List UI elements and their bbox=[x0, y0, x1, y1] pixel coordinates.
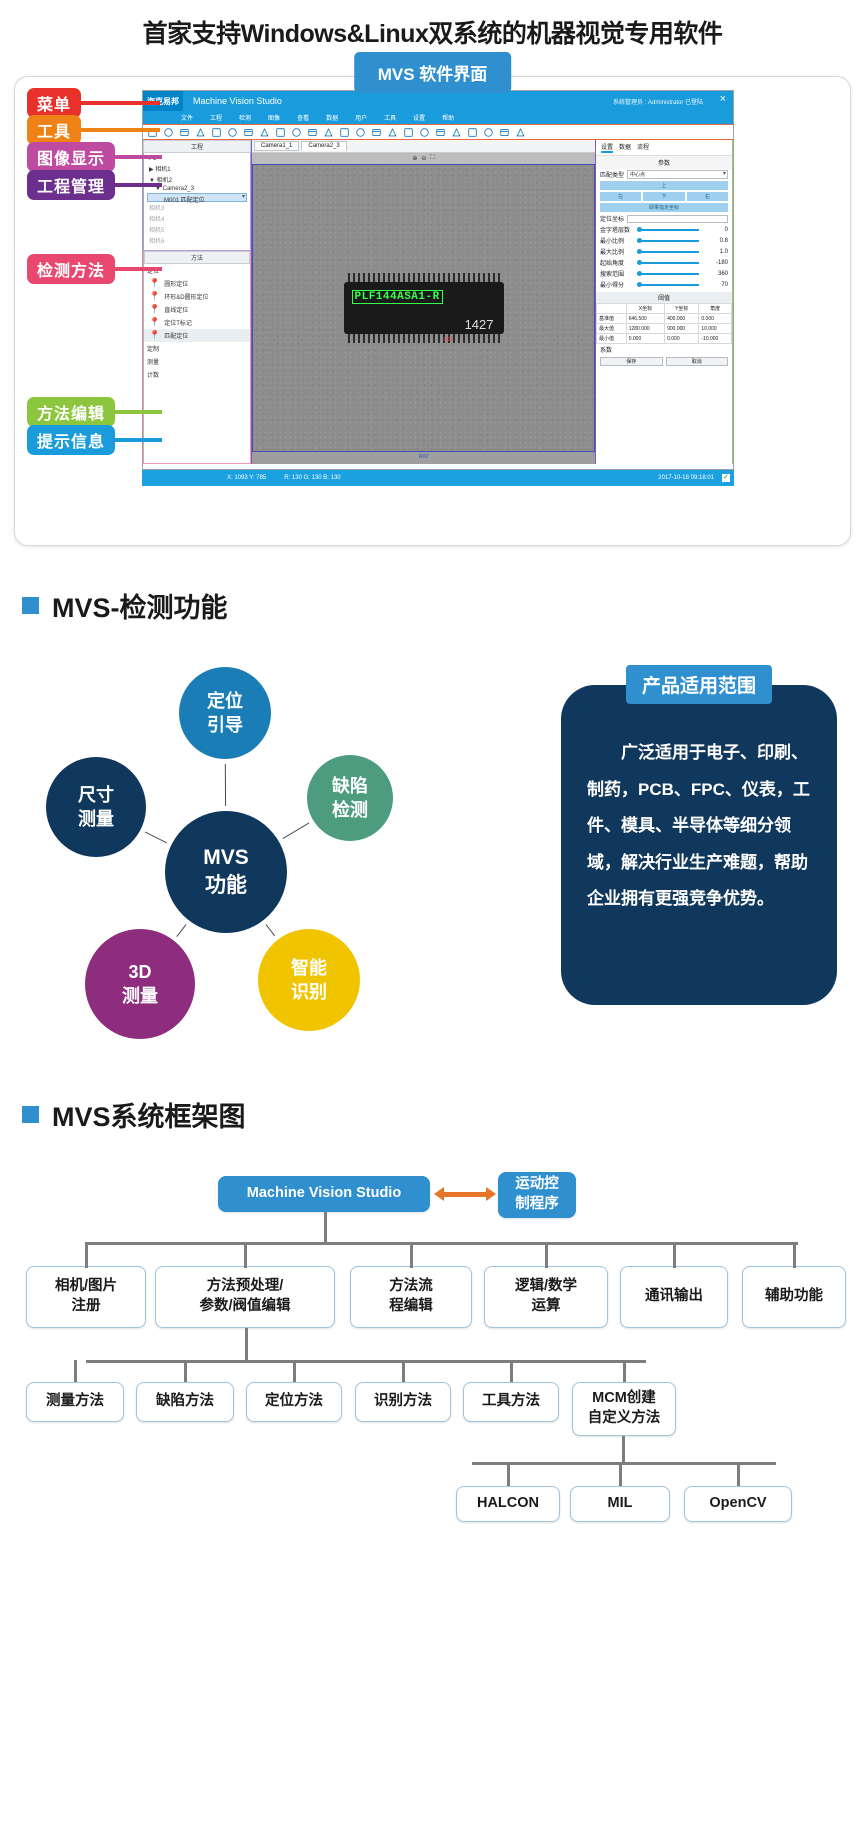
save-button[interactable]: 保存 bbox=[600, 357, 663, 366]
bubble-line: 功能 bbox=[205, 872, 247, 900]
cell-1-4: 0.000 bbox=[699, 314, 732, 324]
info-icon[interactable] bbox=[514, 126, 527, 139]
target-icon[interactable] bbox=[402, 126, 415, 139]
help-icon[interactable] bbox=[498, 126, 511, 139]
l2-drop-3 bbox=[293, 1360, 296, 1382]
coord-input[interactable] bbox=[627, 215, 728, 223]
zoom-out-icon[interactable]: ⊖ bbox=[421, 155, 426, 162]
l1-drop-2 bbox=[244, 1242, 247, 1268]
heading-square-icon-2 bbox=[22, 1106, 39, 1123]
confirm-coord-button[interactable]: 即果指定坐标 bbox=[600, 203, 728, 212]
cell-2-4: 10.000 bbox=[699, 324, 732, 334]
bubble-line: 测量 bbox=[78, 807, 114, 831]
status-coords: X: 1093 Y: 785 bbox=[227, 475, 266, 481]
system-admin-text: 系统管理员 : Administrator 已登陆 bbox=[613, 97, 703, 106]
cell-2-2: 1280.000 bbox=[626, 324, 664, 334]
image-canvas[interactable]: PLF144ASA1-R 1427 R01 bbox=[252, 164, 595, 452]
node-line: MCM创建 bbox=[592, 1389, 656, 1409]
pencil-icon[interactable] bbox=[418, 126, 431, 139]
bubble-line: 测量 bbox=[122, 984, 158, 1008]
param-row-3: 最大比例1.0 bbox=[596, 246, 732, 257]
node-line: 相机/图片 bbox=[55, 1277, 117, 1297]
method-item-定位-5[interactable]: 📍匹配定位 bbox=[144, 329, 250, 342]
param-value: 0 bbox=[702, 227, 728, 233]
method-group-2: 定制 bbox=[144, 342, 250, 355]
save-icon[interactable] bbox=[162, 126, 175, 139]
threshold-table: X坐标Y坐标角度 基准值646.500400.0000.000最大值1280.0… bbox=[596, 303, 732, 344]
settings-tab-1[interactable]: 设置 bbox=[601, 142, 613, 153]
param-slider[interactable] bbox=[637, 270, 699, 278]
pin-line-icon: 📍 bbox=[149, 305, 160, 314]
framework-l3-node-3[interactable]: OpenCV bbox=[684, 1486, 792, 1522]
roi-label-top: R01 bbox=[444, 337, 453, 343]
callout-arrow bbox=[115, 267, 162, 271]
menu-item-8[interactable]: 工具 bbox=[384, 113, 396, 122]
menu-item-9[interactable]: 设置 bbox=[413, 113, 425, 122]
menu-bar: 文件工程检测图像查看数据用户工具设置帮助 bbox=[143, 111, 733, 124]
user-icon[interactable] bbox=[370, 126, 383, 139]
menu-item-1[interactable]: 文件 bbox=[181, 113, 193, 122]
framework-l1-node-3[interactable]: 方法流程编辑 bbox=[350, 1266, 472, 1328]
mail-icon[interactable] bbox=[306, 126, 319, 139]
method-item-定位-1[interactable]: 📍圆形定位 bbox=[144, 277, 250, 290]
node-line: 程编辑 bbox=[389, 1297, 433, 1317]
l1-drop-5 bbox=[673, 1242, 676, 1268]
coord-row: 定位坐标 bbox=[596, 213, 732, 224]
method-item-label: 定位T标记 bbox=[164, 318, 192, 327]
node-line: 工具方法 bbox=[482, 1392, 540, 1412]
pin-t-icon: 📍 bbox=[149, 318, 160, 327]
th-2: X坐标 bbox=[626, 304, 664, 314]
param-label: 最大比例 bbox=[600, 247, 634, 256]
menu-item-3[interactable]: 检测 bbox=[239, 113, 251, 122]
framework-l3-node-2[interactable]: MIL bbox=[570, 1486, 670, 1522]
framework-l1-node-1[interactable]: 相机/图片注册 bbox=[26, 1266, 146, 1328]
function-bubble-5[interactable]: 3D测量 bbox=[85, 929, 195, 1039]
project-tree[interactable]: P1▶ 相机1▼ 相机2▼ Camera2_3M001 匹配定位相机3相机4相机… bbox=[143, 153, 251, 251]
function-bubbles: 定位引导缺陷检测尺寸测量MVS功能3D测量智能识别 bbox=[0, 635, 460, 1055]
param-row-6: 最小得分70 bbox=[596, 279, 732, 290]
match-type-select[interactable]: 中心点 bbox=[627, 170, 728, 179]
l2-drop-1 bbox=[74, 1360, 77, 1382]
framework-l1-node-6[interactable]: 辅助功能 bbox=[742, 1266, 846, 1328]
l1-to-l2-line bbox=[245, 1328, 248, 1362]
functions-heading: MVS-检测功能 bbox=[22, 586, 865, 625]
param-row-1: 金字塔层数0 bbox=[596, 224, 732, 235]
settings-buttons: 保存 取消 bbox=[596, 355, 732, 368]
menu-item-6[interactable]: 数据 bbox=[326, 113, 338, 122]
param-value: -180 bbox=[702, 260, 728, 266]
camera-icon[interactable] bbox=[242, 126, 255, 139]
framework-root-node[interactable]: Machine Vision Studio bbox=[218, 1176, 430, 1212]
framework-l2-node-3[interactable]: 定位方法 bbox=[246, 1382, 342, 1422]
dir-right-button[interactable]: 右 bbox=[687, 192, 728, 201]
menu-item-7[interactable]: 用户 bbox=[355, 113, 367, 122]
camera-tabs[interactable]: Camera1_1Camera2_3 bbox=[252, 140, 595, 153]
pin-icon: 📍 bbox=[149, 279, 160, 288]
node-line: 方法预处理/ bbox=[207, 1277, 284, 1297]
method-item-label: 匹配定位 bbox=[164, 331, 188, 340]
pin-icon: 📍 bbox=[149, 331, 160, 340]
callout-4: 工程管理 bbox=[27, 170, 115, 200]
method-item-定位-4[interactable]: 📍定位T标记 bbox=[144, 316, 250, 329]
tool-bar bbox=[143, 124, 733, 140]
l2-drop-4 bbox=[402, 1360, 405, 1382]
match-type-row: 匹配类型 中心点 bbox=[596, 169, 732, 180]
cell-1-1: 基准值 bbox=[597, 314, 627, 324]
chart-icon[interactable] bbox=[322, 126, 335, 139]
tree-node-5[interactable]: M001 匹配定位 bbox=[147, 193, 247, 202]
warning-icon[interactable] bbox=[226, 126, 239, 139]
method-item-定位-3[interactable]: 📍直线定位 bbox=[144, 303, 250, 316]
threshold-title: 阈值 bbox=[596, 292, 732, 303]
tree-node-9[interactable]: 相机6 bbox=[147, 235, 247, 246]
l3-drop-1 bbox=[507, 1462, 510, 1486]
callout-arrow bbox=[81, 101, 160, 105]
param-row-2: 最小比例0.8 bbox=[596, 235, 732, 246]
threshold-table-body: 基准值646.500400.0000.000最大值1280.000900.000… bbox=[597, 314, 732, 344]
method-group-3: 测量 bbox=[144, 355, 250, 368]
function-bubble-6[interactable]: 智能识别 bbox=[258, 929, 360, 1031]
node-line: 定位方法 bbox=[265, 1392, 323, 1412]
cell-3-4: -10.000 bbox=[699, 334, 732, 344]
load-icon[interactable] bbox=[178, 126, 191, 139]
cell-2-1: 最大值 bbox=[597, 324, 627, 334]
screenshot-section: MVS 软件界面 菜单工具图像显示工程管理检测方法方法编辑提示信息 泡克易邦 M… bbox=[14, 76, 851, 546]
run-icon[interactable] bbox=[354, 126, 367, 139]
match-type-label: 匹配类型 bbox=[600, 170, 624, 179]
functions-area: 定位引导缺陷检测尺寸测量MVS功能3D测量智能识别 产品适用范围 广泛适用于电子… bbox=[0, 635, 865, 1055]
menu-item-4[interactable]: 图像 bbox=[268, 113, 280, 122]
settings-tab-2[interactable]: 数据 bbox=[619, 142, 631, 153]
framework-heading: MVS系统框架图 bbox=[22, 1095, 865, 1134]
node-line: 逻辑/数学 bbox=[515, 1277, 577, 1297]
method-panel-header: 方法 bbox=[144, 251, 250, 264]
image-bottom-bar: R02 bbox=[252, 452, 595, 464]
tree-node-8[interactable]: 相机5 bbox=[147, 224, 247, 235]
screenshot-card: 菜单工具图像显示工程管理检测方法方法编辑提示信息 泡克易邦 Machine Vi… bbox=[14, 76, 851, 546]
param-slider[interactable] bbox=[637, 226, 699, 234]
param-slider[interactable] bbox=[637, 259, 699, 267]
callout-arrow bbox=[115, 183, 162, 187]
settings-tabs[interactable]: 设置数据流程 bbox=[596, 140, 732, 156]
callout-1: 菜单 bbox=[27, 88, 81, 118]
gears-icon: 📍 bbox=[149, 292, 160, 301]
match-type-value: 中心点 bbox=[628, 172, 645, 178]
l2-to-l3-line bbox=[622, 1436, 625, 1464]
level2-bus-line bbox=[86, 1360, 646, 1363]
node-line: 测量方法 bbox=[46, 1392, 104, 1412]
l3-drop-3 bbox=[737, 1462, 740, 1486]
param-label: 起始角度 bbox=[600, 258, 634, 267]
close-icon[interactable]: × bbox=[720, 93, 726, 105]
settings-tab-3[interactable]: 流程 bbox=[637, 142, 649, 153]
mvs-application-window: 泡克易邦 Machine Vision Studio 系统管理员 : Admin… bbox=[142, 90, 734, 470]
zoom-in-icon[interactable]: ⊕ bbox=[412, 155, 417, 162]
image-toolbar[interactable]: ⊕ ⊖ ⛶ bbox=[252, 153, 595, 164]
method-list[interactable]: 定位📍圆形定位📍环形&D圆形定位📍直线定位📍定位T标记📍匹配定位定制测量计数 bbox=[144, 264, 250, 381]
node-line: MIL bbox=[608, 1494, 633, 1514]
method-item-定位-2[interactable]: 📍环形&D圆形定位 bbox=[144, 290, 250, 303]
status-rgb: R: 130 G: 130 B: 130 bbox=[284, 475, 340, 481]
framework-l2-node-2[interactable]: 缺陷方法 bbox=[136, 1382, 234, 1422]
framework-l2-node-4[interactable]: 识别方法 bbox=[355, 1382, 451, 1422]
threshold-table-head: X坐标Y坐标角度 bbox=[597, 304, 732, 314]
framework-l1-node-2[interactable]: 方法预处理/参数/阀值编辑 bbox=[155, 1266, 335, 1328]
menu-item-5[interactable]: 查看 bbox=[297, 113, 309, 122]
cell-2-3: 900.000 bbox=[665, 324, 699, 334]
lock-icon[interactable] bbox=[194, 126, 207, 139]
status-check-icon: ✓ bbox=[722, 474, 730, 482]
method-item-label: 环形&D圆形定位 bbox=[164, 292, 208, 301]
framework-l2-node-6[interactable]: MCM创建自定义方法 bbox=[572, 1382, 676, 1436]
dir-down-button[interactable]: 下 bbox=[643, 192, 684, 201]
menu-item-10[interactable]: 帮助 bbox=[442, 113, 454, 122]
node-line: 缺陷方法 bbox=[156, 1392, 214, 1412]
framework-l2-node-1[interactable]: 测量方法 bbox=[26, 1382, 124, 1422]
app-title-text: Machine Vision Studio bbox=[193, 96, 282, 106]
l2-drop-6 bbox=[623, 1360, 626, 1382]
node-line: HALCON bbox=[477, 1494, 539, 1514]
param-row-5: 搜索范围360 bbox=[596, 268, 732, 279]
import-icon[interactable] bbox=[258, 126, 271, 139]
framework-diagram: Machine Vision Studio运动控制程序相机/图片注册方法预处理/… bbox=[0, 1160, 865, 1540]
callout-7: 提示信息 bbox=[27, 425, 115, 455]
bubble-line: 检测 bbox=[332, 798, 368, 822]
chip-marking-text: PLF144ASA1-R bbox=[352, 290, 443, 304]
callout-3: 图像显示 bbox=[27, 142, 115, 172]
framework-l1-node-5[interactable]: 通讯输出 bbox=[620, 1266, 728, 1328]
camera-tab-2[interactable]: Camera2_3 bbox=[301, 141, 346, 151]
param-label: 搜索范围 bbox=[600, 269, 634, 278]
callout-arrow bbox=[115, 155, 162, 159]
search-icon[interactable] bbox=[338, 126, 351, 139]
function-bubble-3[interactable]: 尺寸测量 bbox=[46, 757, 146, 857]
coord-label: 定位坐标 bbox=[600, 214, 624, 223]
gear-icon[interactable] bbox=[434, 126, 447, 139]
wifi-icon[interactable] bbox=[482, 126, 495, 139]
th-4: 角度 bbox=[699, 304, 732, 314]
function-bubble-1[interactable]: 定位引导 bbox=[179, 667, 271, 759]
function-bubble-4[interactable]: MVS功能 bbox=[165, 811, 287, 933]
param-label: 金字塔层数 bbox=[600, 225, 634, 234]
settings-section-title: 参数 bbox=[596, 156, 732, 169]
th-1 bbox=[597, 304, 627, 314]
bubble-line: 定位 bbox=[207, 689, 243, 713]
node-line: 参数/阀值编辑 bbox=[199, 1297, 290, 1317]
image-display-panel: Camera1_1Camera2_3 ⊕ ⊖ ⛶ PLF144ASA1-R 14… bbox=[251, 140, 595, 464]
grid-icon[interactable] bbox=[450, 126, 463, 139]
th-3: Y坐标 bbox=[665, 304, 699, 314]
node-line: 方法流 bbox=[389, 1277, 433, 1297]
l1-drop-1 bbox=[85, 1242, 88, 1268]
table-row: 最大值1280.000900.00010.000 bbox=[597, 324, 732, 334]
status-datetime: 2017-10-18 09:18:01 bbox=[658, 475, 714, 481]
document-icon[interactable] bbox=[290, 126, 303, 139]
scope-box: 产品适用范围 广泛适用于电子、印刷、制药，PCB、FPC、仪表，工件、模具、半导… bbox=[561, 685, 837, 1005]
tree-node-7[interactable]: 相机4 bbox=[147, 213, 247, 224]
fit-icon[interactable]: ⛶ bbox=[430, 155, 434, 162]
param-slider[interactable] bbox=[637, 281, 699, 289]
chip-image: PLF144ASA1-R 1427 bbox=[344, 282, 504, 334]
functions-heading-text: MVS-检测功能 bbox=[52, 586, 228, 625]
l1-drop-6 bbox=[793, 1242, 796, 1268]
l2-drop-2 bbox=[184, 1360, 187, 1382]
level3-bus-line bbox=[472, 1462, 776, 1465]
tree-node-2[interactable]: ▶ 相机1 bbox=[147, 163, 247, 174]
param-label: 最小得分 bbox=[600, 280, 634, 289]
node-line: 运动控 bbox=[515, 1175, 559, 1195]
method-item-label: 圆形定位 bbox=[164, 279, 188, 288]
cell-3-1: 最小值 bbox=[597, 334, 627, 344]
coefficient-label: 系数 bbox=[596, 344, 732, 355]
level1-bus-line bbox=[86, 1242, 798, 1245]
method-group-4: 计数 bbox=[144, 368, 250, 381]
project-panel-header: 工程 bbox=[143, 140, 251, 153]
l2-drop-5 bbox=[510, 1360, 513, 1382]
method-item-label: 直线定位 bbox=[164, 305, 188, 314]
node-line: 识别方法 bbox=[374, 1392, 432, 1412]
param-slider[interactable] bbox=[637, 248, 699, 256]
callout-arrow bbox=[81, 128, 160, 132]
param-row-4: 起始角度-180 bbox=[596, 257, 732, 268]
app-body: 工程 P1▶ 相机1▼ 相机2▼ Camera2_3M001 匹配定位相机3相机… bbox=[143, 140, 733, 464]
chip-pins-bottom bbox=[348, 334, 500, 343]
scope-text: 广泛适用于电子、印刷、制药，PCB、FPC、仪表，工件、模具、半导体等细分领域，… bbox=[587, 735, 811, 918]
method-panel: 方法 定位📍圆形定位📍环形&D圆形定位📍直线定位📍定位T标记📍匹配定位定制测量计… bbox=[143, 251, 251, 464]
bubble-line: 缺陷 bbox=[332, 774, 368, 798]
node-line: 运算 bbox=[532, 1297, 561, 1317]
dir-up-button[interactable]: 上 bbox=[600, 181, 728, 190]
add-user-icon[interactable] bbox=[386, 126, 399, 139]
callout-5: 检测方法 bbox=[27, 254, 115, 284]
node-line: 通讯输出 bbox=[645, 1287, 703, 1307]
arrow-right-icon[interactable] bbox=[466, 126, 479, 139]
roi-label-bottom: R02 bbox=[419, 454, 428, 460]
framework-l3-node-1[interactable]: HALCON bbox=[456, 1486, 560, 1522]
cell-1-2: 646.500 bbox=[626, 314, 664, 324]
function-bubble-2[interactable]: 缺陷检测 bbox=[307, 755, 393, 841]
cancel-button[interactable]: 取消 bbox=[666, 357, 729, 366]
scope-badge: 产品适用范围 bbox=[626, 665, 772, 704]
cell-3-3: 0.000 bbox=[665, 334, 699, 344]
cell-1-3: 400.000 bbox=[665, 314, 699, 324]
param-slider[interactable] bbox=[637, 237, 699, 245]
l3-drop-2 bbox=[619, 1462, 622, 1486]
l1-drop-4 bbox=[545, 1242, 548, 1268]
framework-heading-text: MVS系统框架图 bbox=[52, 1095, 246, 1134]
menu-item-2[interactable]: 工程 bbox=[210, 113, 222, 122]
app-titlebar: 泡克易邦 Machine Vision Studio 系统管理员 : Admin… bbox=[143, 91, 733, 111]
param-value: 360 bbox=[702, 271, 728, 277]
parameter-rows: 金字塔层数0最小比例0.8最大比例1.0起始角度-180搜索范围360最小得分7… bbox=[596, 224, 732, 290]
node-line: 注册 bbox=[72, 1297, 101, 1317]
chip-number-text: 1427 bbox=[465, 317, 494, 332]
bubble-line: 尺寸 bbox=[78, 783, 114, 807]
param-value: 1.0 bbox=[702, 249, 728, 255]
chip-pins-top bbox=[348, 273, 500, 282]
callout-6: 方法编辑 bbox=[27, 397, 115, 427]
bubble-line: 智能 bbox=[291, 956, 327, 980]
param-label: 最小比例 bbox=[600, 236, 634, 245]
framework-l1-node-4[interactable]: 逻辑/数学运算 bbox=[484, 1266, 608, 1328]
framework-side-node[interactable]: 运动控制程序 bbox=[498, 1172, 576, 1218]
dir-button-row: 左 下 右 bbox=[596, 191, 732, 202]
page-title: 首家支持Windows&Linux双系统的机器视觉专用软件 bbox=[0, 0, 865, 50]
settings-panel: 设置数据流程 参数 匹配类型 中心点 上 左 下 右 即果指定坐标 bbox=[595, 140, 733, 464]
param-value: 70 bbox=[702, 282, 728, 288]
dir-left-button[interactable]: 左 bbox=[600, 192, 641, 201]
cell-3-2: 0.000 bbox=[626, 334, 664, 344]
callout-arrow bbox=[115, 438, 162, 442]
node-line: Machine Vision Studio bbox=[247, 1184, 401, 1204]
callout-2: 工具 bbox=[27, 115, 81, 145]
bubble-line: 引导 bbox=[207, 713, 243, 737]
image-icon[interactable] bbox=[210, 126, 223, 139]
camera-tab-1[interactable]: Camera1_1 bbox=[254, 141, 299, 151]
table-row: 基准值646.500400.0000.000 bbox=[597, 314, 732, 324]
node-line: OpenCV bbox=[709, 1494, 766, 1514]
root-down-line bbox=[324, 1212, 327, 1244]
bubble-line: 识别 bbox=[291, 980, 327, 1004]
heading-square-icon bbox=[22, 597, 39, 614]
bubble-line: MVS bbox=[203, 844, 249, 872]
param-value: 0.8 bbox=[702, 238, 728, 244]
callout-arrow bbox=[115, 410, 162, 414]
screenshot-badge: MVS 软件界面 bbox=[354, 52, 512, 93]
framework-l2-node-5[interactable]: 工具方法 bbox=[463, 1382, 559, 1422]
node-line: 制程序 bbox=[515, 1195, 559, 1215]
bidirectional-arrow-icon bbox=[444, 1192, 486, 1197]
picture-icon[interactable] bbox=[274, 126, 287, 139]
node-line: 辅助功能 bbox=[765, 1287, 823, 1307]
table-row: 最小值0.0000.000-10.000 bbox=[597, 334, 732, 344]
bubble-line: 3D bbox=[128, 960, 151, 984]
node-line: 自定义方法 bbox=[588, 1409, 661, 1429]
project-management-panel: 工程 P1▶ 相机1▼ 相机2▼ Camera2_3M001 匹配定位相机3相机… bbox=[143, 140, 251, 464]
l1-drop-3 bbox=[410, 1242, 413, 1268]
status-bar: X: 1093 Y: 785 R: 130 G: 130 B: 130 2017… bbox=[142, 470, 734, 486]
